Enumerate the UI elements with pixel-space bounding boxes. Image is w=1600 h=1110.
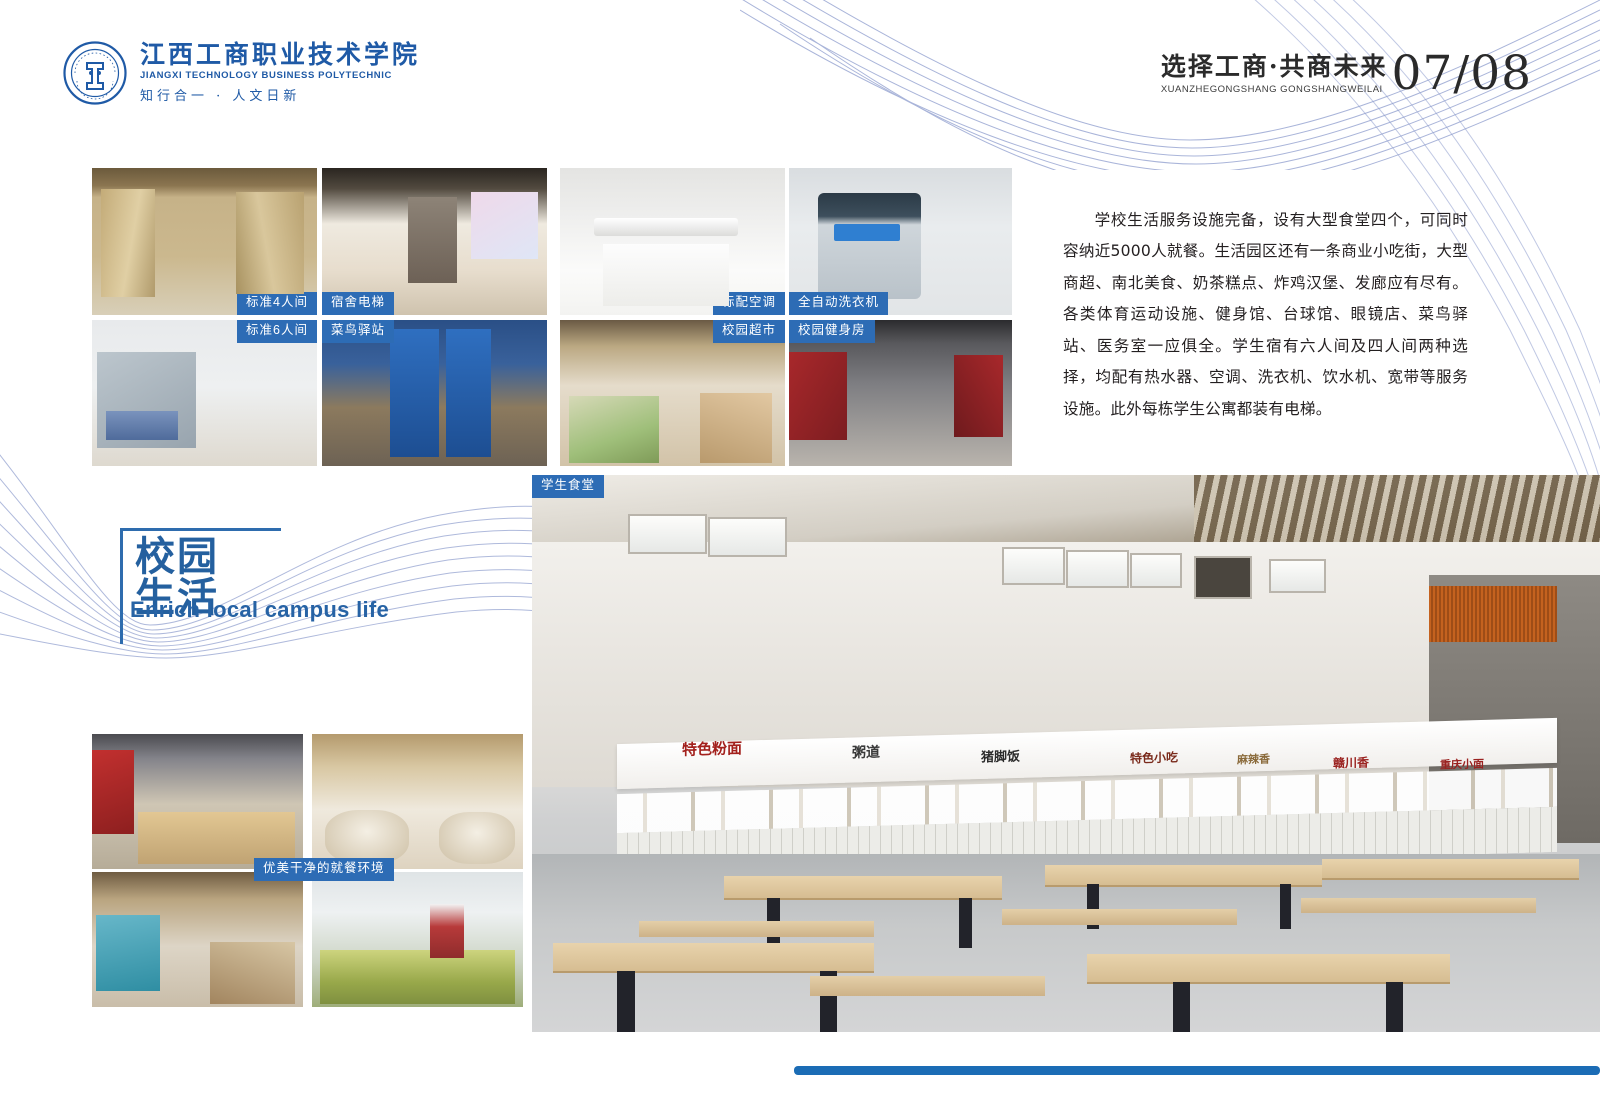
table-leg bbox=[959, 898, 972, 948]
dining-bench bbox=[1301, 898, 1536, 912]
body-paragraph: 学校生活服务设施完备，设有大型食堂四个，可同时容纳近5000人就餐。生活园区还有… bbox=[1063, 205, 1468, 425]
dining-table bbox=[1087, 954, 1450, 982]
photo-dining-hall-long-tables bbox=[92, 734, 303, 869]
table-leg bbox=[1280, 884, 1292, 929]
photo-caption: 宿舍电梯 bbox=[322, 292, 394, 315]
photo-serving-counter bbox=[312, 872, 523, 1007]
page-number: 07/08 bbox=[1392, 52, 1532, 97]
window bbox=[628, 514, 707, 554]
dining-bench bbox=[1002, 909, 1237, 925]
photo-caption: 菜鸟驿站 bbox=[322, 320, 394, 343]
window bbox=[1269, 559, 1326, 594]
photo-caption: 全自动洗衣机 bbox=[789, 292, 888, 315]
wall-brick-band bbox=[1429, 586, 1557, 642]
photo-dorm-4-person: 标准4人间 bbox=[92, 168, 317, 315]
table-leg bbox=[1173, 982, 1190, 1032]
photo-caption: 标准6人间 bbox=[237, 320, 317, 343]
footer-rule bbox=[794, 1066, 1600, 1075]
section-title-cn-line1: 校园 bbox=[135, 537, 219, 577]
school-name-en: JIANGXI TECHNOLOGY BUSINESS POLYTECHNIC bbox=[140, 70, 420, 81]
university-seal-icon bbox=[63, 41, 127, 105]
dining-bench bbox=[639, 921, 874, 938]
slogan-pinyin: XUANZHEGONGSHANG GONGSHANGWEILAI bbox=[1161, 84, 1383, 95]
photo-air-conditioner: 标配空调 bbox=[560, 168, 785, 315]
photo-serving-corridor bbox=[92, 872, 303, 1007]
body-paragraph-text: 学校生活服务设施完备，设有大型食堂四个，可同时容纳近5000人就餐。生活园区还有… bbox=[1063, 211, 1468, 418]
dining-bench bbox=[810, 976, 1045, 996]
table-leg bbox=[1386, 982, 1403, 1032]
window bbox=[1194, 556, 1251, 599]
photo-dorm-6-person: 标准6人间 bbox=[92, 320, 317, 466]
table-leg bbox=[617, 971, 634, 1032]
page-header: 江西工商职业技术学院 JIANGXI TECHNOLOGY BUSINESS P… bbox=[0, 0, 1600, 140]
slogan-cn: 选择工商·共商未来 bbox=[1161, 53, 1388, 81]
photo-caption: 标准4人间 bbox=[237, 292, 317, 315]
photo-campus-supermarket: 校园超市 bbox=[560, 320, 785, 466]
window bbox=[1066, 550, 1129, 587]
dining-table bbox=[1045, 865, 1323, 885]
stall-sign-4: 特色小吃 bbox=[1130, 748, 1178, 766]
window bbox=[1002, 547, 1065, 584]
photo-student-cafeteria: 特色粉面 粥道 猪脚饭 特色小吃 麻辣香 赣川香 重庆小面 学生食堂 bbox=[532, 475, 1600, 1032]
stall-sign-6: 赣川香 bbox=[1333, 753, 1369, 771]
dining-table bbox=[1322, 859, 1578, 878]
window bbox=[708, 517, 787, 557]
hero-photo-caption: 学生食堂 bbox=[532, 475, 604, 498]
header-slogan-block: 选择工商·共商未来 XUANZHEGONGSHANG GONGSHANGWEIL… bbox=[1161, 52, 1532, 97]
photo-cainiao-station: 菜鸟驿站 bbox=[322, 320, 547, 466]
photo-dorm-elevator: 宿舍电梯 bbox=[322, 168, 547, 315]
section-title-en: Enrich local campus life bbox=[130, 597, 389, 623]
photo-grid-bottom-caption: 优美干净的就餐环境 bbox=[254, 858, 394, 881]
school-name-cn: 江西工商职业技术学院 bbox=[140, 42, 420, 68]
photo-caption: 校园超市 bbox=[713, 320, 785, 343]
photo-washing-machine: 全自动洗衣机 bbox=[789, 168, 1012, 315]
stall-sign-2: 粥道 bbox=[852, 742, 880, 763]
photo-caption: 标配空调 bbox=[713, 292, 785, 315]
school-logo: 江西工商职业技术学院 JIANGXI TECHNOLOGY BUSINESS P… bbox=[63, 41, 420, 105]
dining-table bbox=[724, 876, 1002, 898]
photo-dining-hall-round-tables bbox=[312, 734, 523, 869]
school-motto: 知行合一 · 人文日新 bbox=[140, 85, 420, 104]
stall-sign-5: 麻辣香 bbox=[1237, 751, 1270, 768]
photo-caption: 校园健身房 bbox=[789, 320, 875, 343]
section-title-left-rule bbox=[120, 620, 123, 644]
photo-campus-gym: 校园健身房 bbox=[789, 320, 1012, 466]
dining-table bbox=[553, 943, 873, 971]
window bbox=[1130, 553, 1182, 588]
stall-sign-3: 猪脚饭 bbox=[981, 745, 1020, 765]
stall-sign-1: 特色粉面 bbox=[682, 737, 742, 760]
